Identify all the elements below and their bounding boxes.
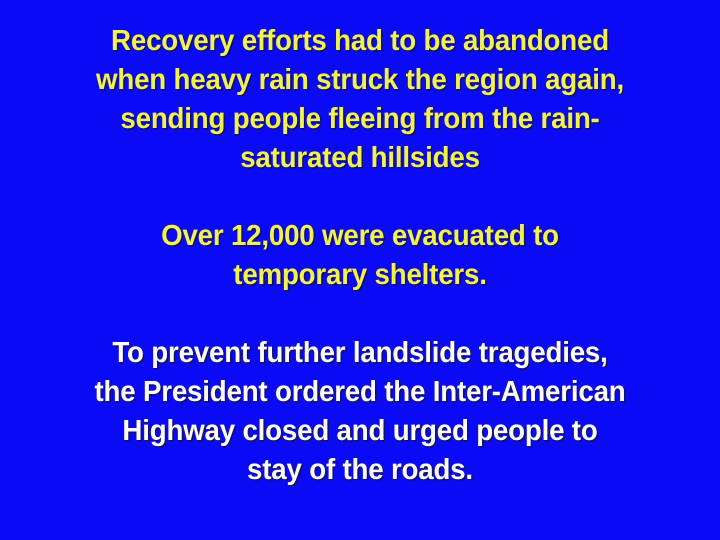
paragraph-1-line-3: sending people fleeing from the rain- bbox=[45, 100, 675, 139]
paragraph-2: Over 12,000 were evacuated to temporary … bbox=[45, 217, 675, 295]
paragraph-1-line-1: Recovery efforts had to be abandoned bbox=[45, 22, 675, 61]
paragraph-gap-2 bbox=[30, 295, 690, 334]
paragraph-gap-1 bbox=[30, 178, 690, 217]
paragraph-2-line-2: temporary shelters. bbox=[45, 256, 675, 295]
paragraph-1-line-2: when heavy rain struck the region again, bbox=[45, 61, 675, 100]
paragraph-1-line-4: saturated hillsides bbox=[45, 139, 675, 178]
paragraph-3-line-3: Highway closed and urged people to bbox=[45, 412, 675, 451]
paragraph-2-line-1: Over 12,000 were evacuated to bbox=[45, 217, 675, 256]
paragraph-3-line-1: To prevent further landslide tragedies, bbox=[45, 334, 675, 373]
paragraph-3-line-4: stay of the roads. bbox=[45, 451, 675, 490]
paragraph-3-line-2: the President ordered the Inter-American bbox=[45, 373, 675, 412]
presentation-slide: Recovery efforts had to be abandoned whe… bbox=[0, 0, 720, 540]
paragraph-3: To prevent further landslide tragedies, … bbox=[45, 334, 675, 490]
paragraph-1: Recovery efforts had to be abandoned whe… bbox=[45, 22, 675, 178]
slide-text-content: Recovery efforts had to be abandoned whe… bbox=[30, 22, 690, 490]
